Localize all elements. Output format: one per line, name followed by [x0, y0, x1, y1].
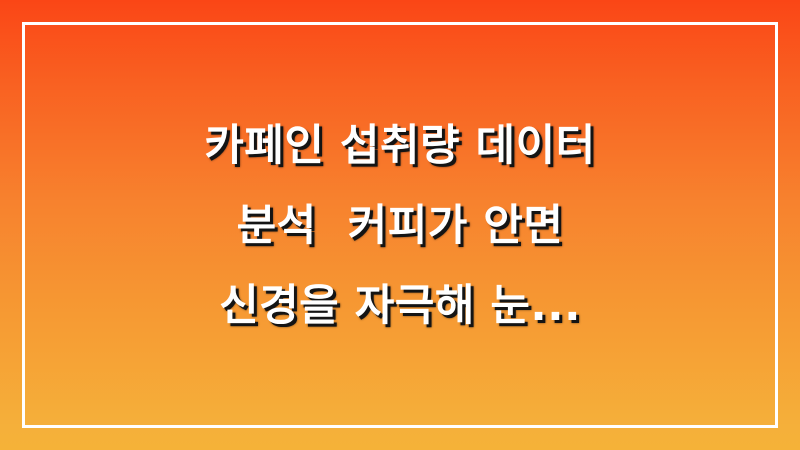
title-block: 카페인 섭취량 데이터 분석 커피가 안면 신경을 자극해 눈... [0, 0, 800, 450]
thumbnail-card: 카페인 섭취량 데이터 분석 커피가 안면 신경을 자극해 눈... [0, 0, 800, 450]
title-line-1: 카페인 섭취량 데이터 [40, 106, 760, 186]
title-line-3: 신경을 자극해 눈... [40, 266, 760, 346]
title-line-2: 분석 커피가 안면 [40, 186, 760, 266]
